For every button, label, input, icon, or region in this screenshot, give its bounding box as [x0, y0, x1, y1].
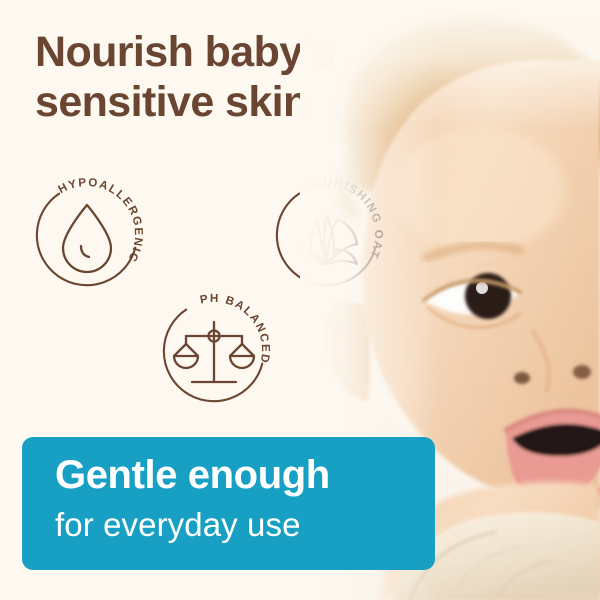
badge-label-hypoallergenic: HYPOALLERGENIC — [56, 176, 145, 265]
badge-label-text: NOURISHING OAT — [300, 176, 385, 261]
badge-label-text: HYPOALLERGENIC — [56, 176, 145, 265]
badge-label-ph-balanced: PH BALANCED — [199, 292, 272, 365]
promo-banner: Gentle enough for everyday use — [22, 437, 435, 570]
product-ad-banner: Nourish baby's sensitive skin HYPOALLERG… — [0, 0, 600, 600]
headline-line-1: Nourish baby's — [35, 28, 336, 76]
balance-scale-icon — [174, 322, 254, 382]
badge-ph-balanced: PH BALANCED — [152, 288, 276, 412]
badge-nourishing-oat: NOURISHING OAT — [265, 172, 389, 296]
water-droplet-icon — [63, 205, 111, 272]
banner-subtext: for everyday use — [55, 508, 301, 541]
banner-headline: Gentle enough — [55, 455, 330, 495]
headline-line-2: sensitive skin — [35, 77, 435, 127]
badge-ring — [277, 194, 375, 286]
oat-sprig-icon — [301, 216, 357, 264]
badge-label-text: PH BALANCED — [199, 292, 272, 365]
badge-hypoallergenic: HYPOALLERGENIC — [25, 172, 149, 296]
badge-label-nourishing-oat: NOURISHING OAT — [300, 176, 385, 261]
page-title: Nourish baby's sensitive skin — [35, 27, 435, 128]
